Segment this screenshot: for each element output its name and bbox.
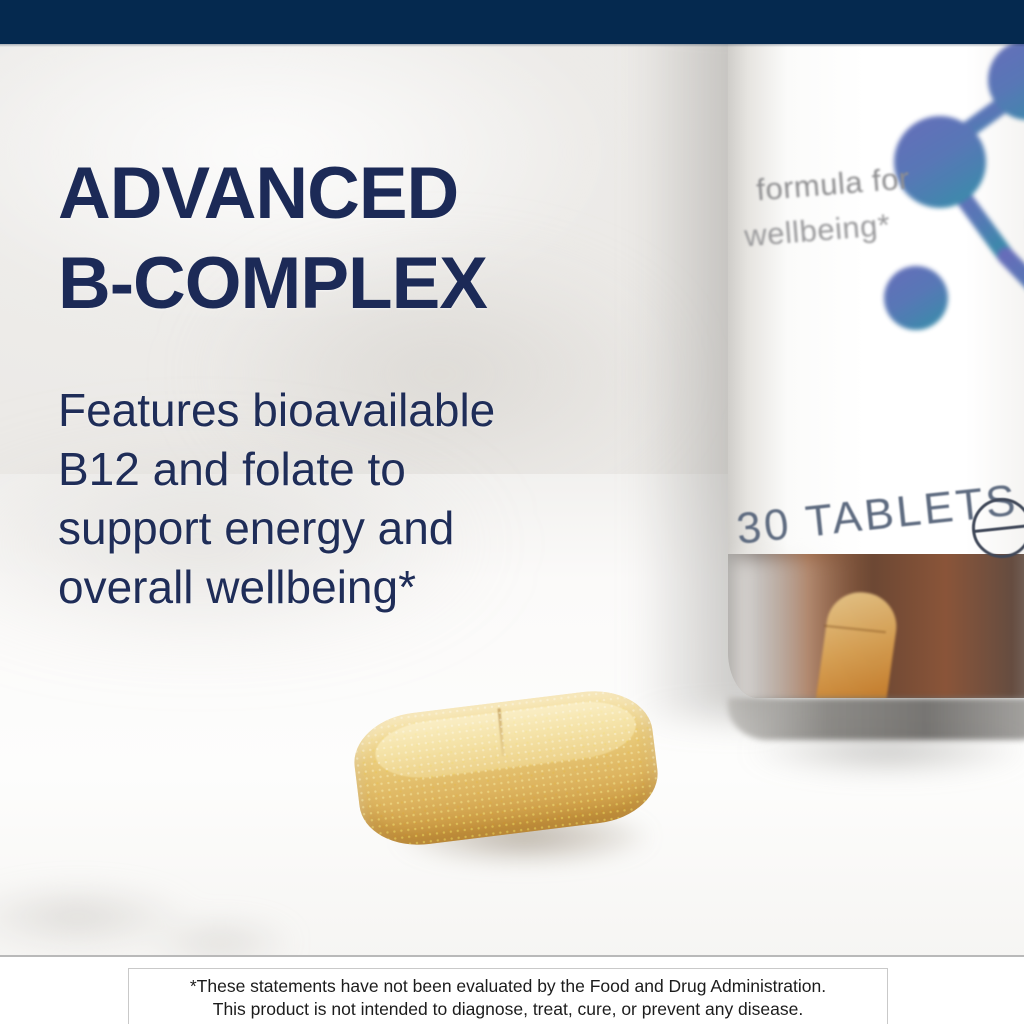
subhead-line-3: support energy and	[58, 499, 598, 558]
countertop-marble-veins	[0, 834, 380, 957]
disclaimer-line-2: This product is not intended to diagnose…	[137, 998, 879, 1021]
bottle-base-rim	[728, 698, 1024, 740]
fda-disclaimer-box: *These statements have not been evaluate…	[128, 968, 888, 1024]
product-photo-scene: formula for wellbeing* 30 TABLETS ADVANC…	[0, 44, 1024, 957]
subhead-line-4: overall wellbeing*	[58, 558, 598, 617]
page-title: ADVANCED B-COMPLEX	[58, 149, 487, 329]
headline-line-1: ADVANCED	[58, 149, 487, 239]
product-description: Features bioavailable B12 and folate to …	[58, 381, 598, 617]
headline-line-2: B-COMPLEX	[58, 239, 487, 329]
subhead-line-1: Features bioavailable	[58, 381, 598, 440]
bottle-body: formula for wellbeing* 30 TABLETS	[728, 44, 1024, 698]
supplement-bottle: formula for wellbeing* 30 TABLETS	[728, 44, 1024, 838]
top-banner-shadow	[0, 44, 1024, 47]
footer-area: *These statements have not been evaluate…	[0, 957, 1024, 1024]
foreground-tablet	[352, 688, 672, 888]
subhead-line-2: B12 and folate to	[58, 440, 598, 499]
top-navy-banner	[0, 0, 1024, 44]
disclaimer-line-1: *These statements have not been evaluate…	[137, 975, 879, 998]
product-marketing-image: formula for wellbeing* 30 TABLETS ADVANC…	[0, 0, 1024, 1024]
